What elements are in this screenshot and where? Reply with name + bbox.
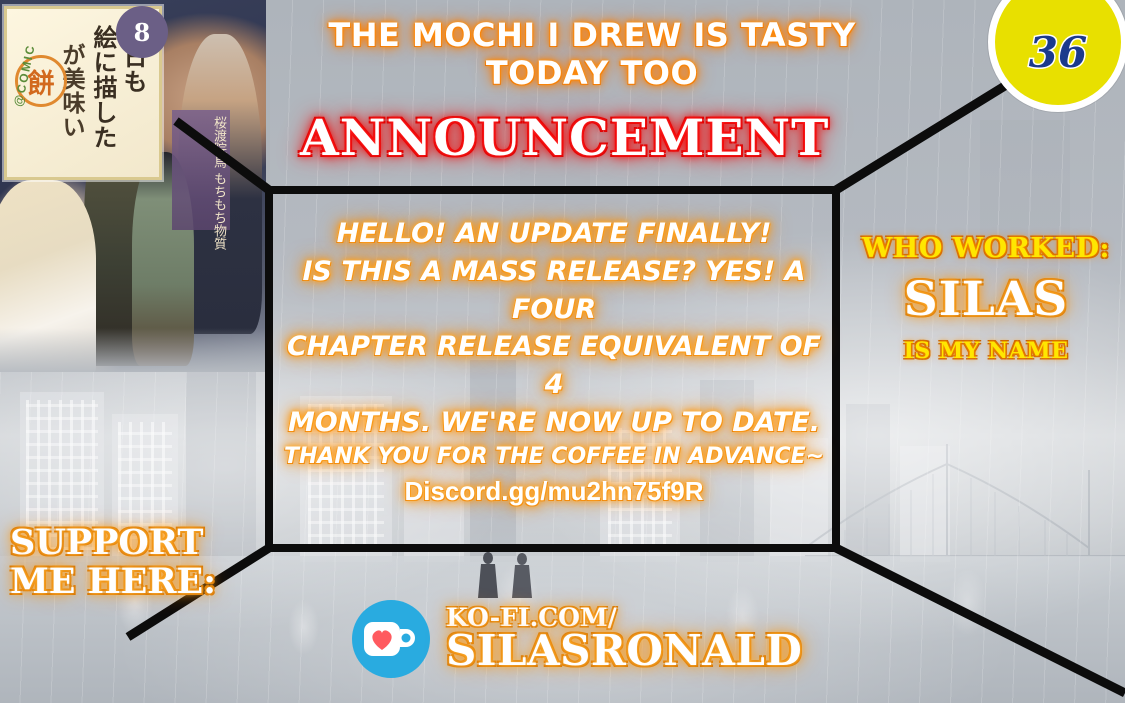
- is-my-name-label: IS MY NAME: [855, 338, 1117, 364]
- support-label-line2: ME HERE:: [10, 563, 240, 602]
- announcement-heading: ANNOUNCEMENT: [300, 108, 780, 167]
- cover-volume-badge: 8: [116, 6, 168, 58]
- chapter-announcement-page: 桜渡院烏 もちもち物質 今日も 絵に描した が美味い 餅 @COMIC 8 36…: [0, 0, 1125, 703]
- announcement-body-line: MONTHS. WE'RE NOW UP TO DATE.: [278, 404, 830, 442]
- series-cover-art: 桜渡院烏 もちもち物質 今日も 絵に描した が美味い 餅 @COMIC 8: [0, 0, 266, 372]
- announcement-body-line: IS THIS A MASS RELEASE? YES! A FOUR: [278, 253, 830, 329]
- series-title: THE MOCHI I DREW IS TASTY TODAY TOO: [262, 16, 922, 92]
- announcement-body-line: CHAPTER RELEASE EQUIVALENT OF 4: [278, 328, 830, 404]
- kofi-logo-icon[interactable]: [352, 600, 430, 678]
- kofi-text-block: KO-FI.COM/ SILASRONALD: [446, 605, 802, 673]
- announcement-body: HELLO! AN UPDATE FINALLY! IS THIS A MASS…: [278, 215, 830, 442]
- chapter-number: 36: [1029, 28, 1087, 77]
- thanks-message: THANK YOU FOR THE COFFEE IN ADVANCE~: [278, 444, 830, 469]
- cover-japanese-title-2: 絵に描した: [91, 25, 115, 150]
- support-label-line1: SUPPORT: [10, 524, 240, 563]
- cover-side-text: 桜渡院烏 もちもち物質: [210, 116, 226, 250]
- kofi-support-block[interactable]: KO-FI.COM/ SILASRONALD: [352, 600, 802, 678]
- who-worked-label: WHO WORKED:: [855, 233, 1117, 264]
- background-silhouette-figures: [470, 548, 550, 602]
- kofi-username: SILASRONALD: [446, 630, 802, 673]
- kofi-cup-icon: [362, 616, 420, 662]
- discord-link[interactable]: Discord.gg/mu2hn75f9R: [278, 476, 830, 507]
- cover-bottom-fade: [0, 328, 266, 372]
- support-label: SUPPORT ME HERE:: [10, 524, 240, 601]
- credit-name: SILAS: [855, 272, 1117, 327]
- announcement-body-line: HELLO! AN UPDATE FINALLY!: [278, 215, 830, 253]
